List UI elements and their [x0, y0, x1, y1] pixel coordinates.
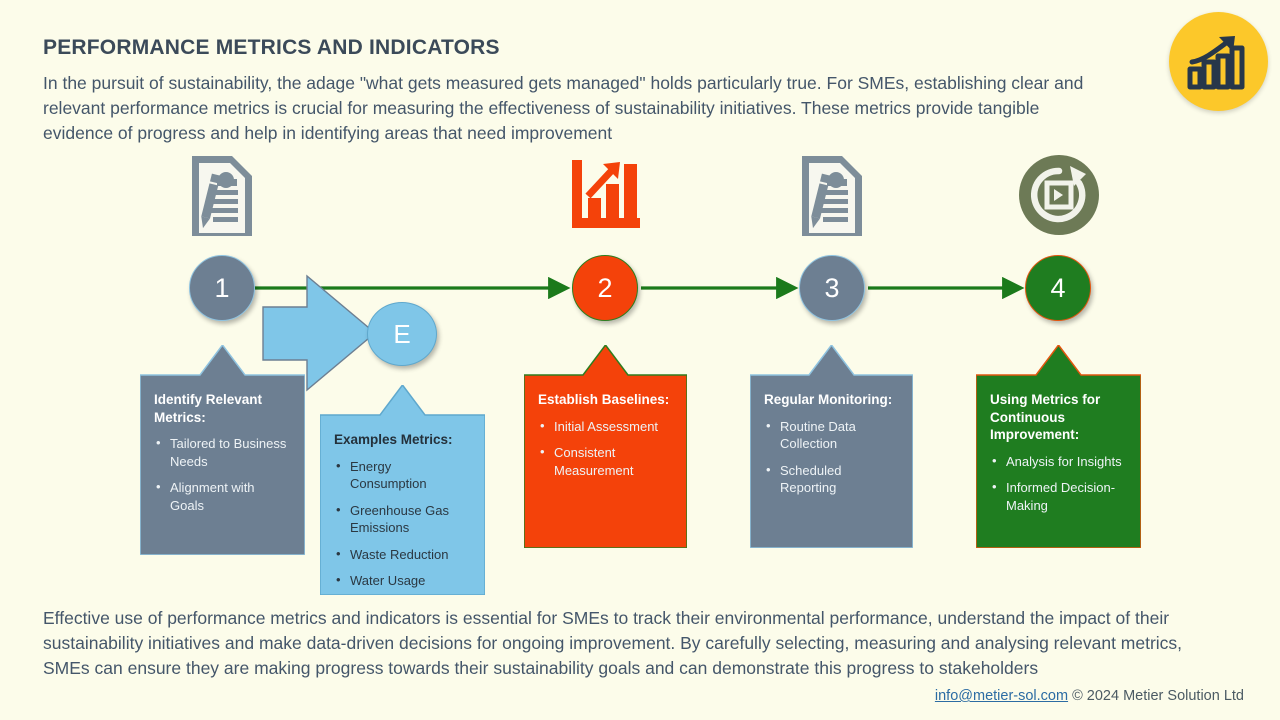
- callout-list: Routine Data Collection Scheduled Report…: [764, 418, 899, 497]
- brand-logo: [1169, 12, 1268, 111]
- list-item: Informed Decision-Making: [990, 479, 1127, 514]
- footer: info@metier-sol.com © 2024 Metier Soluti…: [935, 688, 1244, 704]
- callout-using-metrics-for-continuous-improvement[interactable]: Using Metrics for Continuous Improvement…: [976, 345, 1141, 548]
- callout-heading: Using Metrics for Continuous Improvement…: [990, 391, 1127, 444]
- stage-icon-1: [188, 152, 256, 245]
- callout-identify-relevant-metrics[interactable]: Identify Relevant Metrics: Tailored to B…: [140, 345, 305, 555]
- callout-examples-metrics[interactable]: Examples Metrics: Energy Consumption Gre…: [320, 385, 485, 595]
- list-item: Energy Consumption: [334, 458, 471, 493]
- callout-establish-baselines[interactable]: Establish Baselines: Initial Assessment …: [524, 345, 687, 548]
- list-item: Routine Data Collection: [764, 418, 899, 453]
- flow-node-1[interactable]: 1: [189, 255, 255, 321]
- list-item: Consistent Measurement: [538, 444, 673, 479]
- flow-node-2[interactable]: 2: [572, 255, 638, 321]
- clipboard-pen-icon: [188, 152, 256, 240]
- growth-bar-chart-icon: [1186, 31, 1252, 93]
- list-item: Water Usage: [334, 572, 471, 590]
- callout-heading: Regular Monitoring:: [764, 391, 899, 409]
- intro-paragraph: In the pursuit of sustainability, the ad…: [43, 71, 1108, 146]
- callout-list: Initial Assessment Consistent Measuremen…: [538, 418, 673, 480]
- contact-email-link[interactable]: info@metier-sol.com: [935, 688, 1068, 704]
- stage-icon-2: [570, 158, 642, 235]
- closing-paragraph: Effective use of performance metrics and…: [43, 606, 1203, 681]
- list-item: Waste Reduction: [334, 546, 471, 564]
- callout-heading: Establish Baselines:: [538, 391, 673, 409]
- list-item: Scheduled Reporting: [764, 462, 899, 497]
- callout-heading: Examples Metrics:: [334, 431, 471, 449]
- continuous-improvement-refresh-icon: [1016, 152, 1102, 238]
- list-item: Greenhouse Gas Emissions: [334, 502, 471, 537]
- bar-chart-arrow-up-icon: [570, 158, 642, 230]
- callout-list: Tailored to Business Needs Alignment wit…: [154, 435, 291, 514]
- clipboard-pen-icon: [798, 152, 866, 240]
- flow-node-e[interactable]: E: [367, 302, 437, 366]
- list-item: Tailored to Business Needs: [154, 435, 291, 470]
- stage-icon-4: [1016, 152, 1102, 243]
- callout-heading: Identify Relevant Metrics:: [154, 391, 291, 426]
- flow-node-3[interactable]: 3: [799, 255, 865, 321]
- stage-icon-3: [798, 152, 866, 245]
- callout-regular-monitoring[interactable]: Regular Monitoring: Routine Data Collect…: [750, 345, 913, 548]
- copyright-text: © 2024 Metier Solution Ltd: [1072, 688, 1244, 704]
- list-item: Analysis for Insights: [990, 453, 1127, 471]
- page-title: PERFORMANCE METRICS AND INDICATORS: [43, 36, 500, 60]
- flow-node-4[interactable]: 4: [1025, 255, 1091, 321]
- callout-list: Analysis for Insights Informed Decision-…: [990, 453, 1127, 515]
- list-item: Initial Assessment: [538, 418, 673, 436]
- list-item: Alignment with Goals: [154, 479, 291, 514]
- callout-list: Energy Consumption Greenhouse Gas Emissi…: [334, 458, 471, 590]
